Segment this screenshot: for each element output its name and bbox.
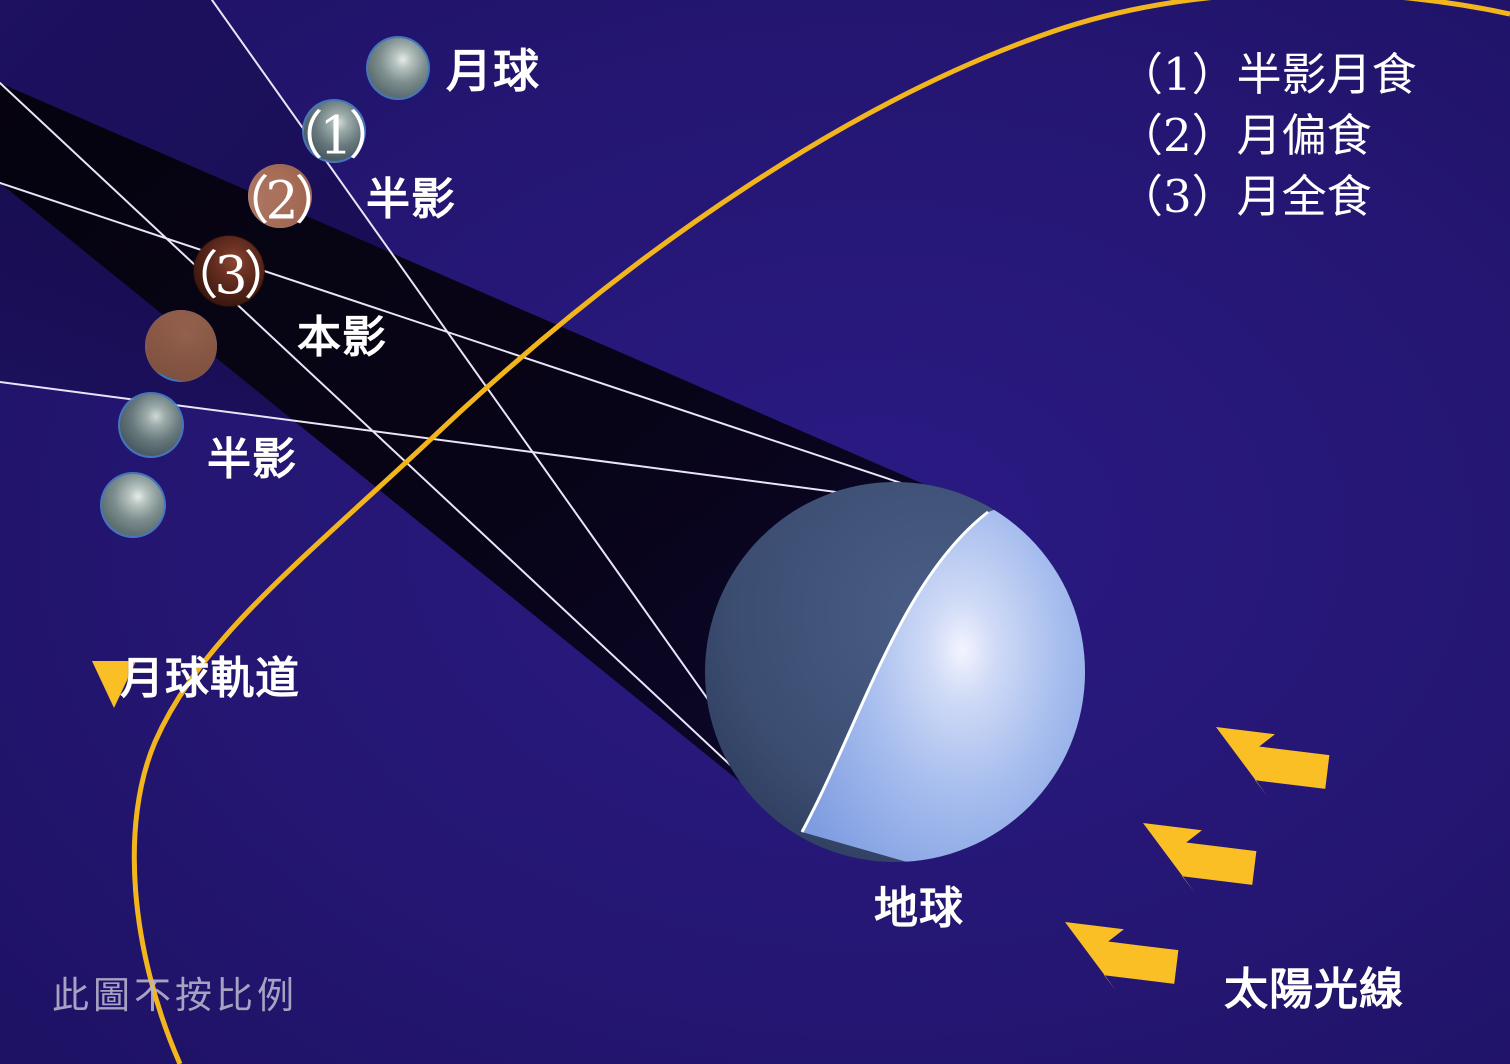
eclipse-diagram: 月球 半影 本影 半影 月球軌道 地球 太陽光線 （1） （2） （3） （1）… xyxy=(0,0,1510,1064)
penumbra-label-upper: 半影 xyxy=(366,178,456,222)
legend-item-3: （3）月全食 xyxy=(1118,166,1417,227)
earth-label: 地球 xyxy=(874,887,964,931)
eclipse-type-legend: （1）半影月食 （2）月偏食 （3）月全食 xyxy=(1118,44,1417,228)
legend-item-2: （2）月偏食 xyxy=(1118,105,1417,166)
penumbra-label-lower: 半影 xyxy=(207,438,297,482)
legend-item-1: （1）半影月食 xyxy=(1118,44,1417,105)
moon-sphere-0 xyxy=(366,36,430,100)
sun-rays-label: 太陽光線 xyxy=(1224,968,1404,1012)
moon-label: 月球 xyxy=(446,48,540,94)
umbra-label: 本影 xyxy=(297,316,387,360)
moon-sphere-3 xyxy=(193,235,265,307)
moon-orbit-label: 月球軌道 xyxy=(120,657,300,701)
not-to-scale-note: 此圖不按比例 xyxy=(52,965,298,1019)
moon-sphere-1 xyxy=(302,99,366,163)
moon-sphere-5 xyxy=(118,392,184,458)
moon-sphere-6 xyxy=(100,472,166,538)
